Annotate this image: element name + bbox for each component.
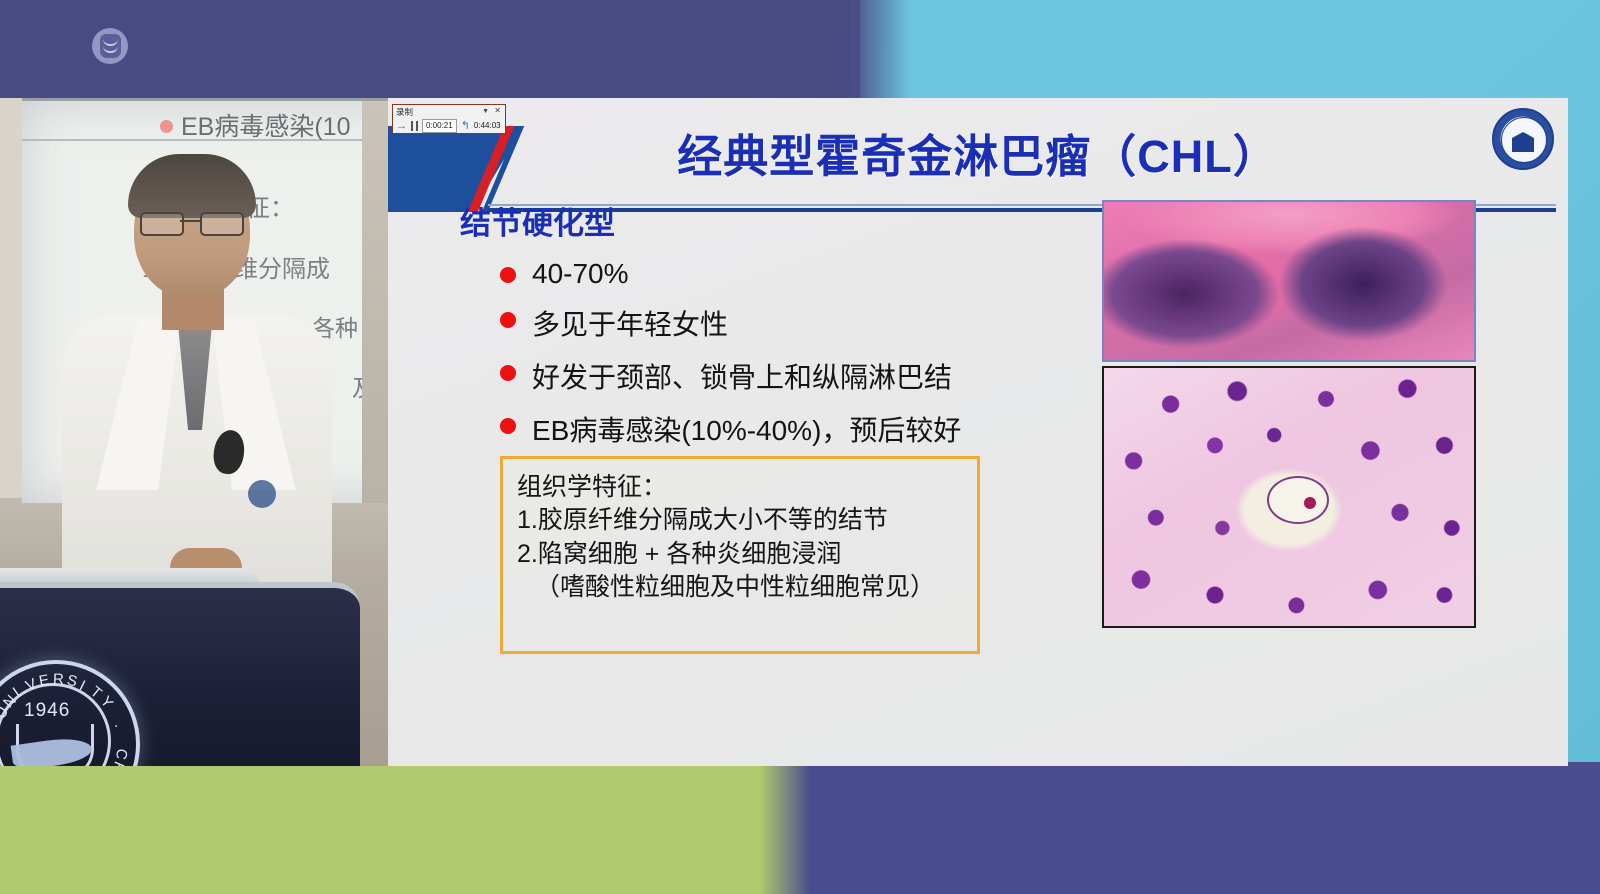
- screen-root: EB病毒感染(10 组织学特征： 1.胶原纤维分隔成 各种 及: [0, 0, 1600, 894]
- projected-line-0: EB病毒感染(10: [160, 107, 350, 143]
- histology-heading: 组织学特征：: [517, 471, 963, 504]
- list-item: 40-70%: [500, 258, 1100, 290]
- speaker-hair: [128, 154, 256, 218]
- speaker-badge: [248, 480, 276, 508]
- projection-screen-edge: [362, 101, 388, 503]
- slide-subtitle: 结节硬化型: [460, 198, 615, 243]
- desktop-background-bottom-green: [0, 762, 790, 894]
- slide-title: 经典型霍奇金淋巴瘤（CHL）: [388, 120, 1568, 185]
- histology-low-power-image: [1102, 200, 1476, 362]
- recording-toolbar-controls: → 0:00:21 ↰ 0:44:03: [393, 118, 505, 133]
- histology-item-1: 1.胶原纤维分隔成大小不等的结节: [517, 504, 963, 537]
- university-emblem-icon: [1492, 108, 1554, 170]
- undo-icon[interactable]: ↰: [461, 119, 470, 132]
- bullet-dot-icon: [500, 267, 516, 283]
- app-logo-icon[interactable]: [92, 28, 128, 64]
- list-item: 好发于颈部、锁骨上和纵隔淋巴结: [500, 356, 1100, 396]
- bullet-dot-icon: [500, 312, 516, 328]
- speaker-glasses: [138, 212, 248, 234]
- chevron-down-icon[interactable]: ▼: [482, 108, 489, 115]
- elapsed-time-field[interactable]: 0:00:21: [422, 119, 457, 133]
- nucleolus-marker: [1304, 497, 1316, 509]
- histology-high-power-image: [1102, 366, 1476, 628]
- histology-item-2: 2.陷窝细胞 + 各种炎细胞浸润: [517, 538, 963, 571]
- recording-title: 录制: [396, 106, 413, 118]
- pause-icon[interactable]: [411, 121, 418, 131]
- speaker-person: [62, 162, 332, 632]
- app-logo-glyph: [100, 34, 121, 58]
- podium-logo-arc-text: UNIVERSITY · CHINA: [0, 664, 136, 766]
- bullet-dot-icon: [500, 418, 516, 434]
- histology-feature-box: 组织学特征： 1.胶原纤维分隔成大小不等的结节 2.陷窝细胞 + 各种炎细胞浸润…: [500, 456, 980, 654]
- list-item: EB病毒感染(10%-40%)，预后较好: [500, 409, 1100, 449]
- bullet-text: EB病毒感染(10%-40%)，预后较好: [532, 409, 961, 449]
- bullet-text: 好发于颈部、锁骨上和纵隔淋巴结: [532, 356, 952, 396]
- bullet-dot-icon: [500, 365, 516, 381]
- slide-bullet-list: 40-70% 多见于年轻女性 好发于颈部、锁骨上和纵隔淋巴结 EB病毒感染(10…: [500, 258, 1100, 462]
- resume-arrow-icon[interactable]: →: [396, 120, 407, 132]
- recording-toolbar-titlebar: 录制 ▼ ✕: [393, 105, 505, 118]
- presentation-slide[interactable]: 经典型霍奇金淋巴瘤（CHL） 结节硬化型 40-70% 多见于年轻女性 好发于颈…: [388, 98, 1568, 766]
- bullet-text: 多见于年轻女性: [532, 303, 728, 343]
- total-time-label: 0:44:03: [474, 121, 501, 130]
- recording-toolbar[interactable]: 录制 ▼ ✕ → 0:00:21 ↰ 0:44:03: [392, 104, 506, 134]
- desktop-background-bottom-blend: [760, 762, 810, 894]
- histology-item-3: （嗜酸性粒细胞及中性粒细胞常见）: [517, 571, 963, 604]
- podium-university-logo: 1946 UNIVERSITY · CHINA: [0, 660, 140, 766]
- lacunar-cell-marker: [1267, 476, 1329, 524]
- close-icon[interactable]: ✕: [494, 106, 501, 115]
- desktop-background-bottom-purple: [780, 762, 1600, 894]
- speaker-video-feed[interactable]: EB病毒感染(10 组织学特征： 1.胶原纤维分隔成 各种 及: [0, 98, 388, 766]
- list-item: 多见于年轻女性: [500, 303, 1100, 343]
- bullet-text: 40-70%: [532, 258, 629, 290]
